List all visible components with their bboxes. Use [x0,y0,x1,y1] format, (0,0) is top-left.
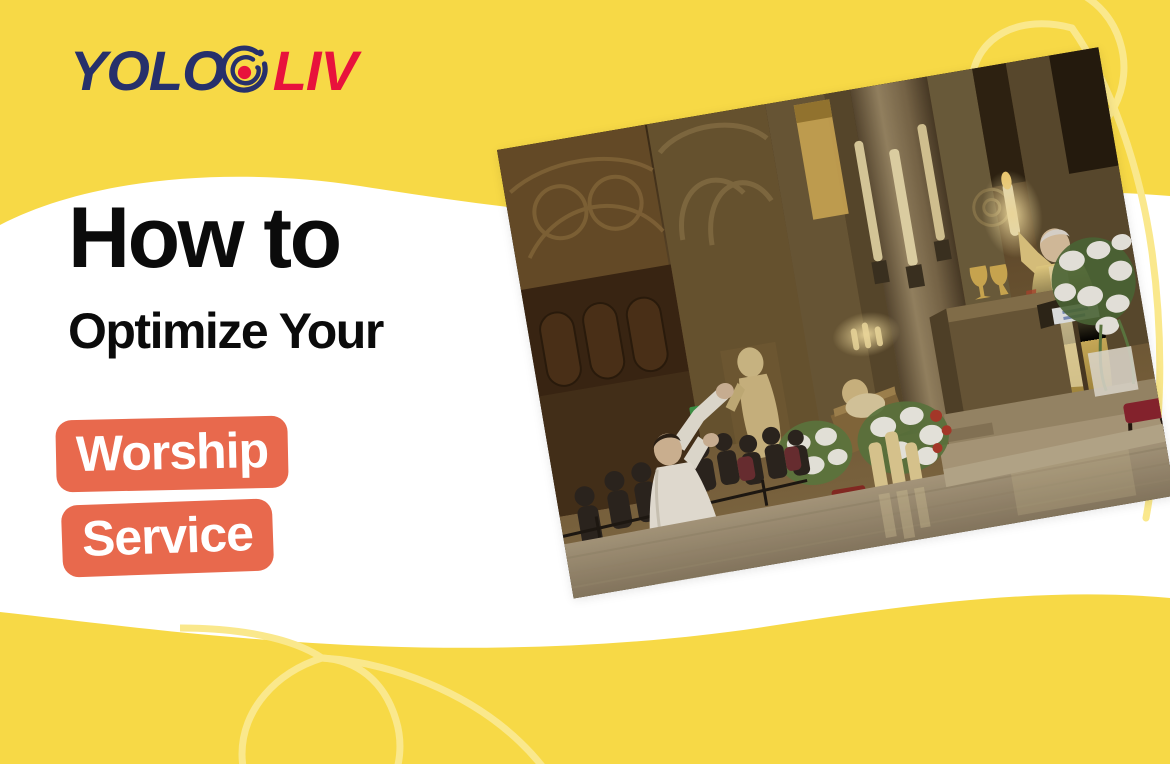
badge-service: Service [61,498,274,577]
keyword-badges: Worship Service [56,418,288,574]
poster-canvas: YOLO LIV How to Optimize Your Worship Se… [0,0,1170,764]
headline-line-1: How to [68,196,508,280]
target-aperture-icon [219,44,273,98]
badge-worship: Worship [55,416,289,493]
logo-text-yolo: YOLO [70,43,225,99]
logo-text-liv: LIV [273,43,357,99]
headline-line-2: Optimize Your [68,306,508,356]
yololiv-logo[interactable]: YOLO LIV [70,42,357,100]
headline-block: How to Optimize Your [68,196,508,356]
